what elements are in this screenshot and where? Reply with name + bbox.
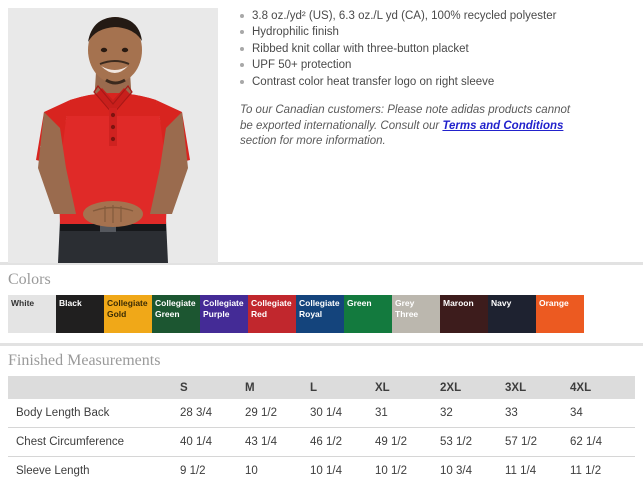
row-label-body-length-back: Body Length Back: [8, 399, 180, 428]
column-header-4xl: 4XL: [570, 376, 635, 399]
column-header-blank: [8, 376, 180, 399]
color-swatch-white[interactable]: White: [8, 295, 56, 333]
canada-note-text-after: section for more information.: [240, 135, 386, 147]
color-swatch-collegiate-green[interactable]: Collegiate Green: [152, 295, 200, 333]
cell-body-length-back-2xl: 32: [440, 399, 505, 428]
cell-sleeve-length-s: 9 1/2: [180, 457, 245, 486]
table-row: Body Length Back 28 3/4 29 1/2 30 1/4 31…: [8, 399, 635, 428]
row-label-chest-circumference: Chest Circumference: [8, 428, 180, 457]
feature-item: UPF 50+ protection: [240, 57, 635, 73]
color-swatch-black[interactable]: Black: [56, 295, 104, 333]
cell-chest-circumference-xl: 49 1/2: [375, 428, 440, 457]
feature-item: Ribbed knit collar with three-button pla…: [240, 41, 635, 57]
color-swatch-green[interactable]: Green: [344, 295, 392, 333]
column-header-l: L: [310, 376, 375, 399]
feature-item: 3.8 oz./yd² (US), 6.3 oz./L yd (CA), 100…: [240, 8, 635, 24]
cell-sleeve-length-l: 10 1/4: [310, 457, 375, 486]
cell-chest-circumference-s: 40 1/4: [180, 428, 245, 457]
color-swatch-maroon[interactable]: Maroon: [440, 295, 488, 333]
cell-body-length-back-l: 30 1/4: [310, 399, 375, 428]
measurements-heading: Finished Measurements: [0, 346, 643, 376]
column-header-s: S: [180, 376, 245, 399]
row-label-sleeve-length: Sleeve Length: [8, 457, 180, 486]
table-row: Sleeve Length 9 1/2 10 10 1/4 10 1/2 10 …: [8, 457, 635, 486]
cell-sleeve-length-2xl: 10 3/4: [440, 457, 505, 486]
table-row: Chest Circumference 40 1/4 43 1/4 46 1/2…: [8, 428, 635, 457]
color-swatch-collegiate-red[interactable]: Collegiate Red: [248, 295, 296, 333]
color-swatch-grey-three[interactable]: Grey Three: [392, 295, 440, 333]
table-body: Body Length Back 28 3/4 29 1/2 30 1/4 31…: [8, 399, 635, 485]
table-header-row: S M L XL 2XL 3XL 4XL: [8, 376, 635, 399]
feature-item: Hydrophilic finish: [240, 24, 635, 40]
product-details: 3.8 oz./yd² (US), 6.3 oz./L yd (CA), 100…: [218, 0, 643, 161]
colors-heading: Colors: [0, 265, 643, 295]
feature-list: 3.8 oz./yd² (US), 6.3 oz./L yd (CA), 100…: [240, 8, 635, 90]
product-photo-illustration: [8, 8, 218, 263]
color-swatch-navy[interactable]: Navy: [488, 295, 536, 333]
cell-body-length-back-m: 29 1/2: [245, 399, 310, 428]
cell-chest-circumference-m: 43 1/4: [245, 428, 310, 457]
cell-chest-circumference-3xl: 57 1/2: [505, 428, 570, 457]
cell-sleeve-length-3xl: 11 1/4: [505, 457, 570, 486]
column-header-m: M: [245, 376, 310, 399]
cell-sleeve-length-4xl: 11 1/2: [570, 457, 635, 486]
canadian-customers-note: To our Canadian customers: Please note a…: [240, 103, 580, 150]
cell-chest-circumference-4xl: 62 1/4: [570, 428, 635, 457]
feature-item: Contrast color heat transfer logo on rig…: [240, 74, 635, 90]
color-swatch-orange[interactable]: Orange: [536, 295, 584, 333]
terms-and-conditions-link[interactable]: Terms and Conditions: [442, 120, 563, 132]
column-header-2xl: 2XL: [440, 376, 505, 399]
color-swatch-row: White Black Collegiate Gold Collegiate G…: [8, 295, 643, 333]
color-swatch-collegiate-royal[interactable]: Collegiate Royal: [296, 295, 344, 333]
column-header-3xl: 3XL: [505, 376, 570, 399]
cell-sleeve-length-xl: 10 1/2: [375, 457, 440, 486]
color-swatch-collegiate-gold[interactable]: Collegiate Gold: [104, 295, 152, 333]
finished-measurements-table: S M L XL 2XL 3XL 4XL Body Length Back 28…: [8, 376, 635, 485]
table-header: S M L XL 2XL 3XL 4XL: [8, 376, 635, 399]
cell-chest-circumference-2xl: 53 1/2: [440, 428, 505, 457]
color-swatch-collegiate-purple[interactable]: Collegiate Purple: [200, 295, 248, 333]
cell-body-length-back-3xl: 33: [505, 399, 570, 428]
cell-chest-circumference-l: 46 1/2: [310, 428, 375, 457]
cell-body-length-back-4xl: 34: [570, 399, 635, 428]
column-header-xl: XL: [375, 376, 440, 399]
cell-body-length-back-s: 28 3/4: [180, 399, 245, 428]
product-overview: 3.8 oz./yd² (US), 6.3 oz./L yd (CA), 100…: [0, 0, 643, 262]
cell-body-length-back-xl: 31: [375, 399, 440, 428]
cell-sleeve-length-m: 10: [245, 457, 310, 486]
product-image[interactable]: [8, 8, 218, 263]
